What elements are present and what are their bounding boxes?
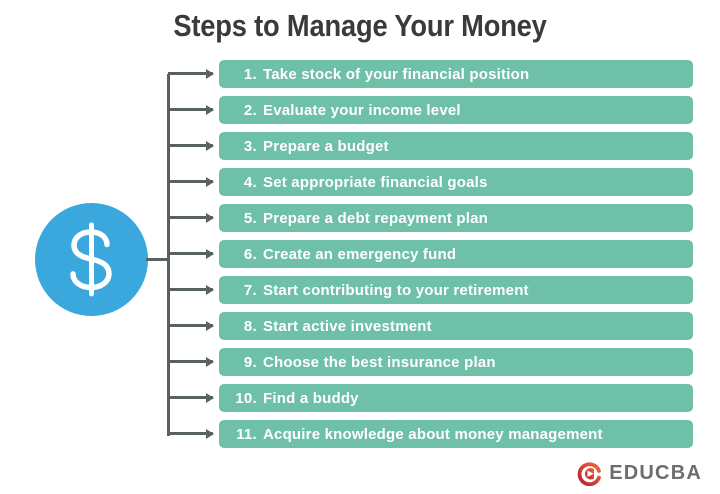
arrow-to-step-6 xyxy=(168,252,213,255)
arrow-to-step-1 xyxy=(168,72,213,75)
step-item[interactable]: 3. Prepare a budget xyxy=(219,132,693,160)
step-label: Start contributing to your retirement xyxy=(263,282,529,299)
step-label: Choose the best insurance plan xyxy=(263,354,496,371)
step-label: Set appropriate financial goals xyxy=(263,174,488,191)
step-number: 9. xyxy=(219,354,263,371)
step-label: Find a buddy xyxy=(263,390,359,407)
dollar-badge xyxy=(35,203,148,316)
arrow-to-step-7 xyxy=(168,288,213,291)
step-item[interactable]: 10. Find a buddy xyxy=(219,384,693,412)
step-item[interactable]: 8. Start active investment xyxy=(219,312,693,340)
arrow-to-step-3 xyxy=(168,144,213,147)
arrow-to-step-8 xyxy=(168,324,213,327)
step-label: Acquire knowledge about money management xyxy=(263,426,603,443)
step-item[interactable]: 5. Prepare a debt repayment plan xyxy=(219,204,693,232)
arrow-to-step-11 xyxy=(168,432,213,435)
step-label: Create an emergency fund xyxy=(263,246,456,263)
brand-name: EDUCBA xyxy=(609,462,702,485)
step-item[interactable]: 1. Take stock of your financial position xyxy=(219,60,693,88)
step-number: 11. xyxy=(219,426,263,443)
arrow-to-step-9 xyxy=(168,360,213,363)
step-number: 6. xyxy=(219,246,263,263)
page-title: Steps to Manage Your Money xyxy=(43,8,677,44)
vertical-spine-line xyxy=(167,74,170,436)
step-number: 10. xyxy=(219,390,263,407)
step-number: 1. xyxy=(219,66,263,83)
steps-list: 1. Take stock of your financial position… xyxy=(219,60,693,456)
arrow-to-step-10 xyxy=(168,396,213,399)
brand-logo: EDUCBA xyxy=(577,461,702,486)
step-item[interactable]: 4. Set appropriate financial goals xyxy=(219,168,693,196)
step-item[interactable]: 9. Choose the best insurance plan xyxy=(219,348,693,376)
educba-swirl-icon xyxy=(577,461,602,486)
step-label: Start active investment xyxy=(263,318,432,335)
step-item[interactable]: 7. Start contributing to your retirement xyxy=(219,276,693,304)
arrow-to-step-4 xyxy=(168,180,213,183)
arrow-to-step-2 xyxy=(168,108,213,111)
step-item[interactable]: 11. Acquire knowledge about money manage… xyxy=(219,420,693,448)
arrow-to-step-5 xyxy=(168,216,213,219)
step-number: 2. xyxy=(219,102,263,119)
step-number: 7. xyxy=(219,282,263,299)
step-number: 4. xyxy=(219,174,263,191)
step-number: 8. xyxy=(219,318,263,335)
step-item[interactable]: 2. Evaluate your income level xyxy=(219,96,693,124)
step-number: 3. xyxy=(219,138,263,155)
step-label: Prepare a debt repayment plan xyxy=(263,210,488,227)
step-number: 5. xyxy=(219,210,263,227)
step-label: Take stock of your financial position xyxy=(263,66,529,83)
step-label: Evaluate your income level xyxy=(263,102,461,119)
dollar-sign-icon xyxy=(35,203,148,316)
infographic-canvas: Steps to Manage Your Money 1. Take stock… xyxy=(0,0,720,494)
step-item[interactable]: 6. Create an emergency fund xyxy=(219,240,693,268)
step-label: Prepare a budget xyxy=(263,138,389,155)
